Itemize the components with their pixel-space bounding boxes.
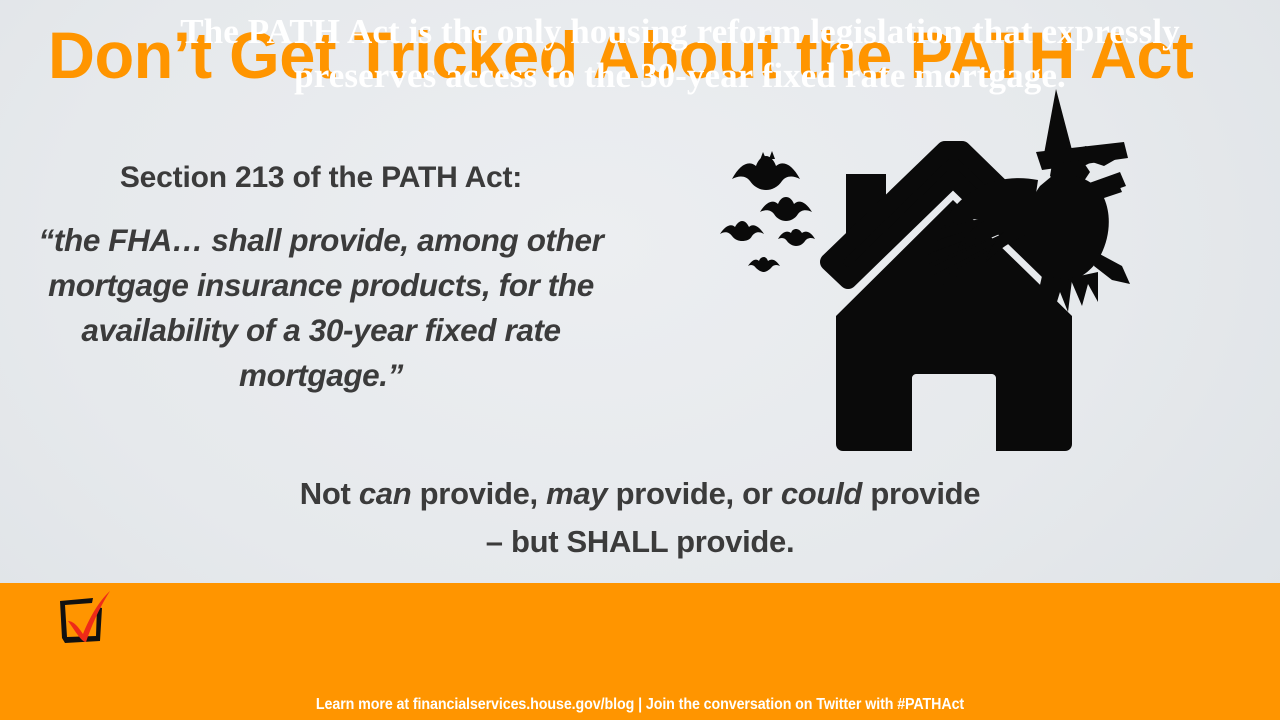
emphasis-text-not: Not (300, 476, 359, 511)
emphasis-text-provide-3: provide (862, 476, 980, 511)
checked-checkbox-icon (52, 588, 118, 650)
emphasis-block: Not can provide, may provide, or could p… (180, 470, 1100, 566)
quote-block: Section 213 of the PATH Act: “the FHA… s… (14, 160, 628, 398)
emphasis-word-could: could (781, 476, 862, 511)
emphasis-line-2: – but SHALL provide. (180, 518, 1100, 566)
emphasis-word-can: can (359, 476, 412, 511)
emphasis-text-provide-2: provide, or (607, 476, 781, 511)
banner-headline: The PATH Act is the only housing reform … (120, 10, 1240, 98)
halloween-artwork (700, 80, 1280, 470)
statute-quote: “the FHA… shall provide, among other mor… (14, 218, 628, 398)
emphasis-line-1: Not can provide, may provide, or could p… (180, 470, 1100, 518)
emphasis-text-provide-1: provide, (411, 476, 546, 511)
emphasis-word-may: may (546, 476, 607, 511)
slide-canvas: Don’t Get Tricked About the PATH Act Sec… (0, 0, 1280, 720)
section-label: Section 213 of the PATH Act: (14, 160, 628, 196)
bats-silhouette (720, 151, 815, 272)
banner-subtext: Learn more at financialservices.house.go… (51, 696, 1229, 714)
house-silhouette (829, 150, 1077, 451)
witch-on-broom-silhouette (927, 89, 1130, 318)
